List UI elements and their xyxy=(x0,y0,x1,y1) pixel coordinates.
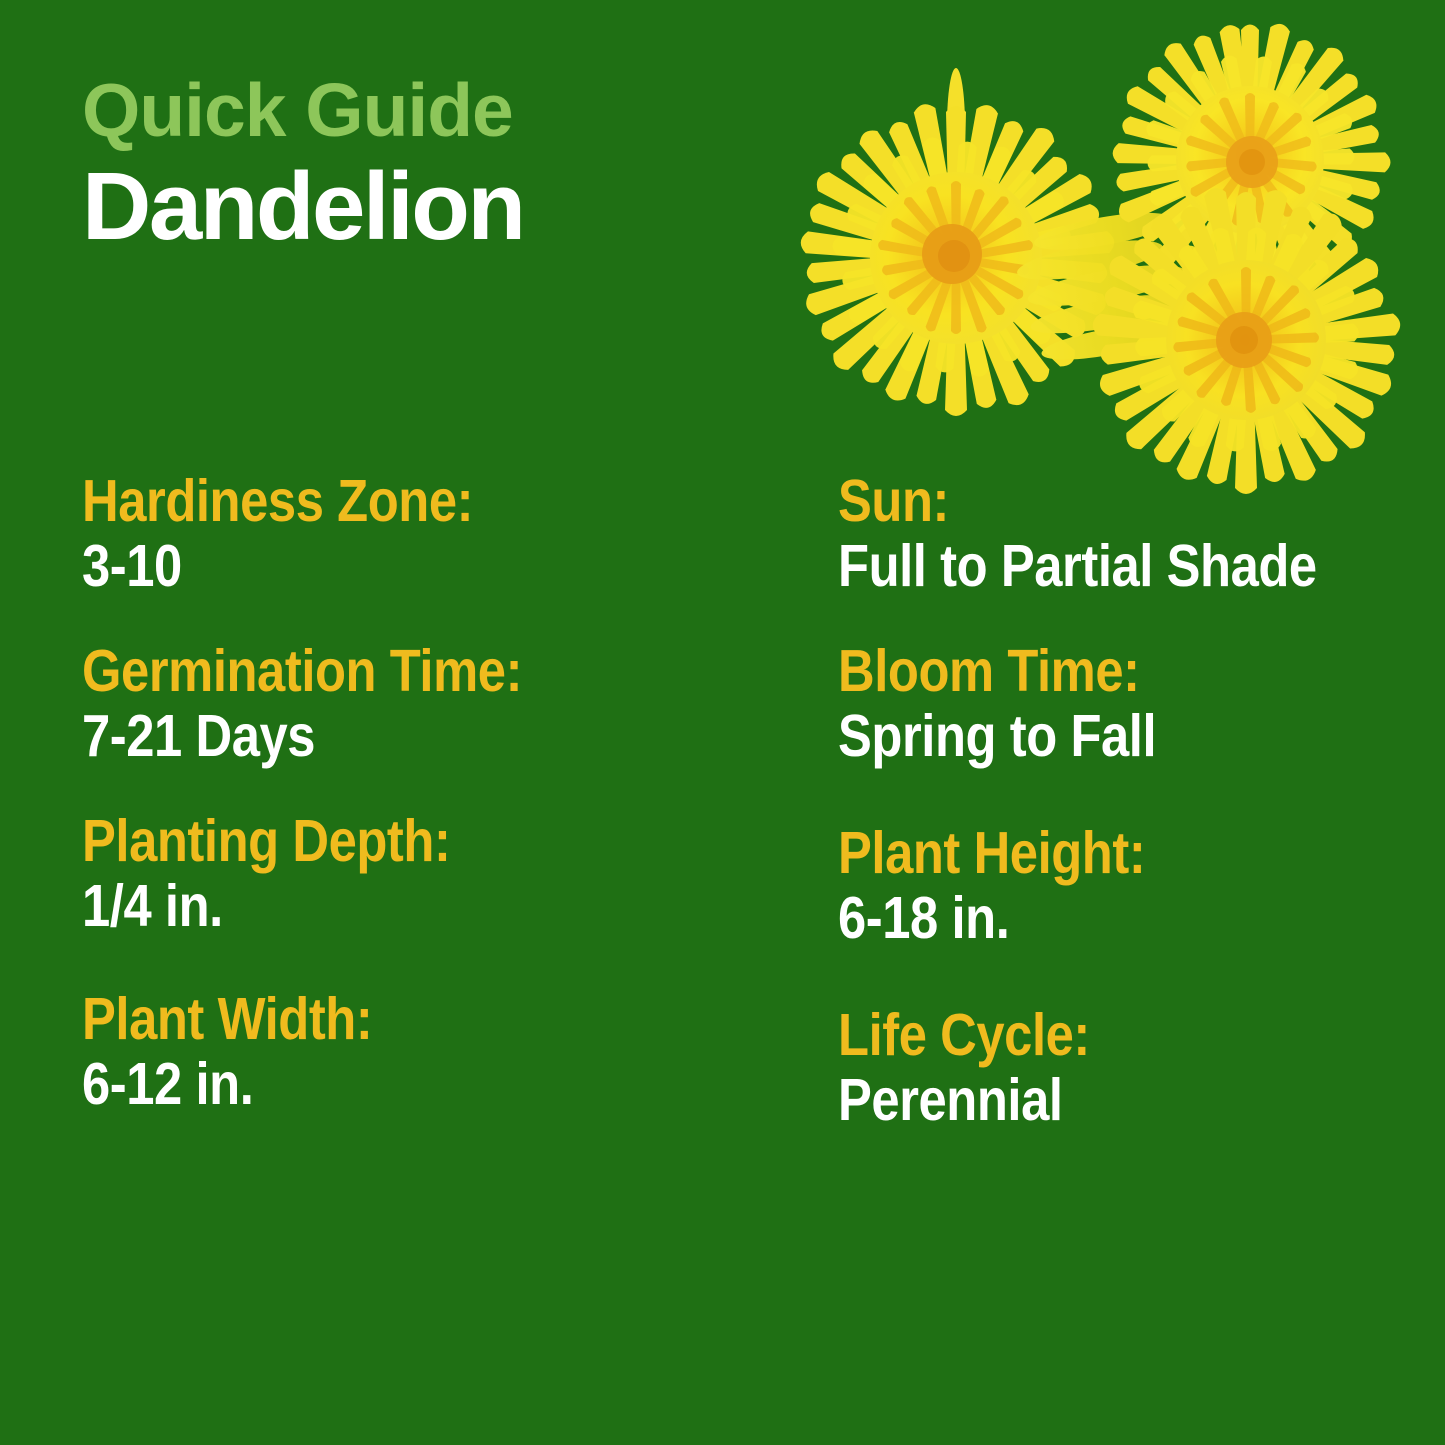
fact-germination-time: Germination Time: 7-21 Days xyxy=(82,642,742,768)
page-title: Dandelion xyxy=(82,157,762,258)
fact-sun: Sun: Full to Partial Shade xyxy=(838,472,1418,598)
fact-value: 6-12 in. xyxy=(82,1053,650,1116)
fact-label: Life Cycle: xyxy=(838,1006,1337,1065)
fact-value: 3-10 xyxy=(82,535,650,598)
facts-column-right: Sun: Full to Partial Shade Bloom Time: S… xyxy=(838,472,1418,1133)
fact-bloom-time: Bloom Time: Spring to Fall xyxy=(838,642,1418,768)
fact-label: Bloom Time: xyxy=(838,642,1337,701)
dandelion-flower-icon xyxy=(760,10,1445,515)
fact-value: 1/4 in. xyxy=(82,875,650,938)
facts-column-left: Hardiness Zone: 3-10 Germination Time: 7… xyxy=(82,472,742,1117)
kicker-text: Quick Guide xyxy=(82,72,762,149)
fact-label: Plant Height: xyxy=(838,824,1337,883)
fact-label: Germination Time: xyxy=(82,642,650,701)
fact-hardiness-zone: Hardiness Zone: 3-10 xyxy=(82,472,742,598)
fact-value: Perennial xyxy=(838,1069,1337,1132)
fact-label: Plant Width: xyxy=(82,990,650,1049)
fact-value: Full to Partial Shade xyxy=(838,535,1337,598)
card-header: Quick Guide Dandelion xyxy=(82,72,762,257)
fact-label: Planting Depth: xyxy=(82,812,650,871)
fact-planting-depth: Planting Depth: 1/4 in. xyxy=(82,812,742,938)
fact-value: 7-21 Days xyxy=(82,705,650,768)
fact-plant-height: Plant Height: 6-18 in. xyxy=(838,824,1418,950)
quick-guide-card: Quick Guide Dandelion xyxy=(0,0,1445,1445)
fact-life-cycle: Life Cycle: Perennial xyxy=(838,1006,1418,1132)
fact-value: 6-18 in. xyxy=(838,887,1337,950)
fact-label: Sun: xyxy=(838,472,1337,531)
fact-plant-width: Plant Width: 6-12 in. xyxy=(82,990,742,1116)
fact-value: Spring to Fall xyxy=(838,705,1337,768)
fact-label: Hardiness Zone: xyxy=(82,472,650,531)
